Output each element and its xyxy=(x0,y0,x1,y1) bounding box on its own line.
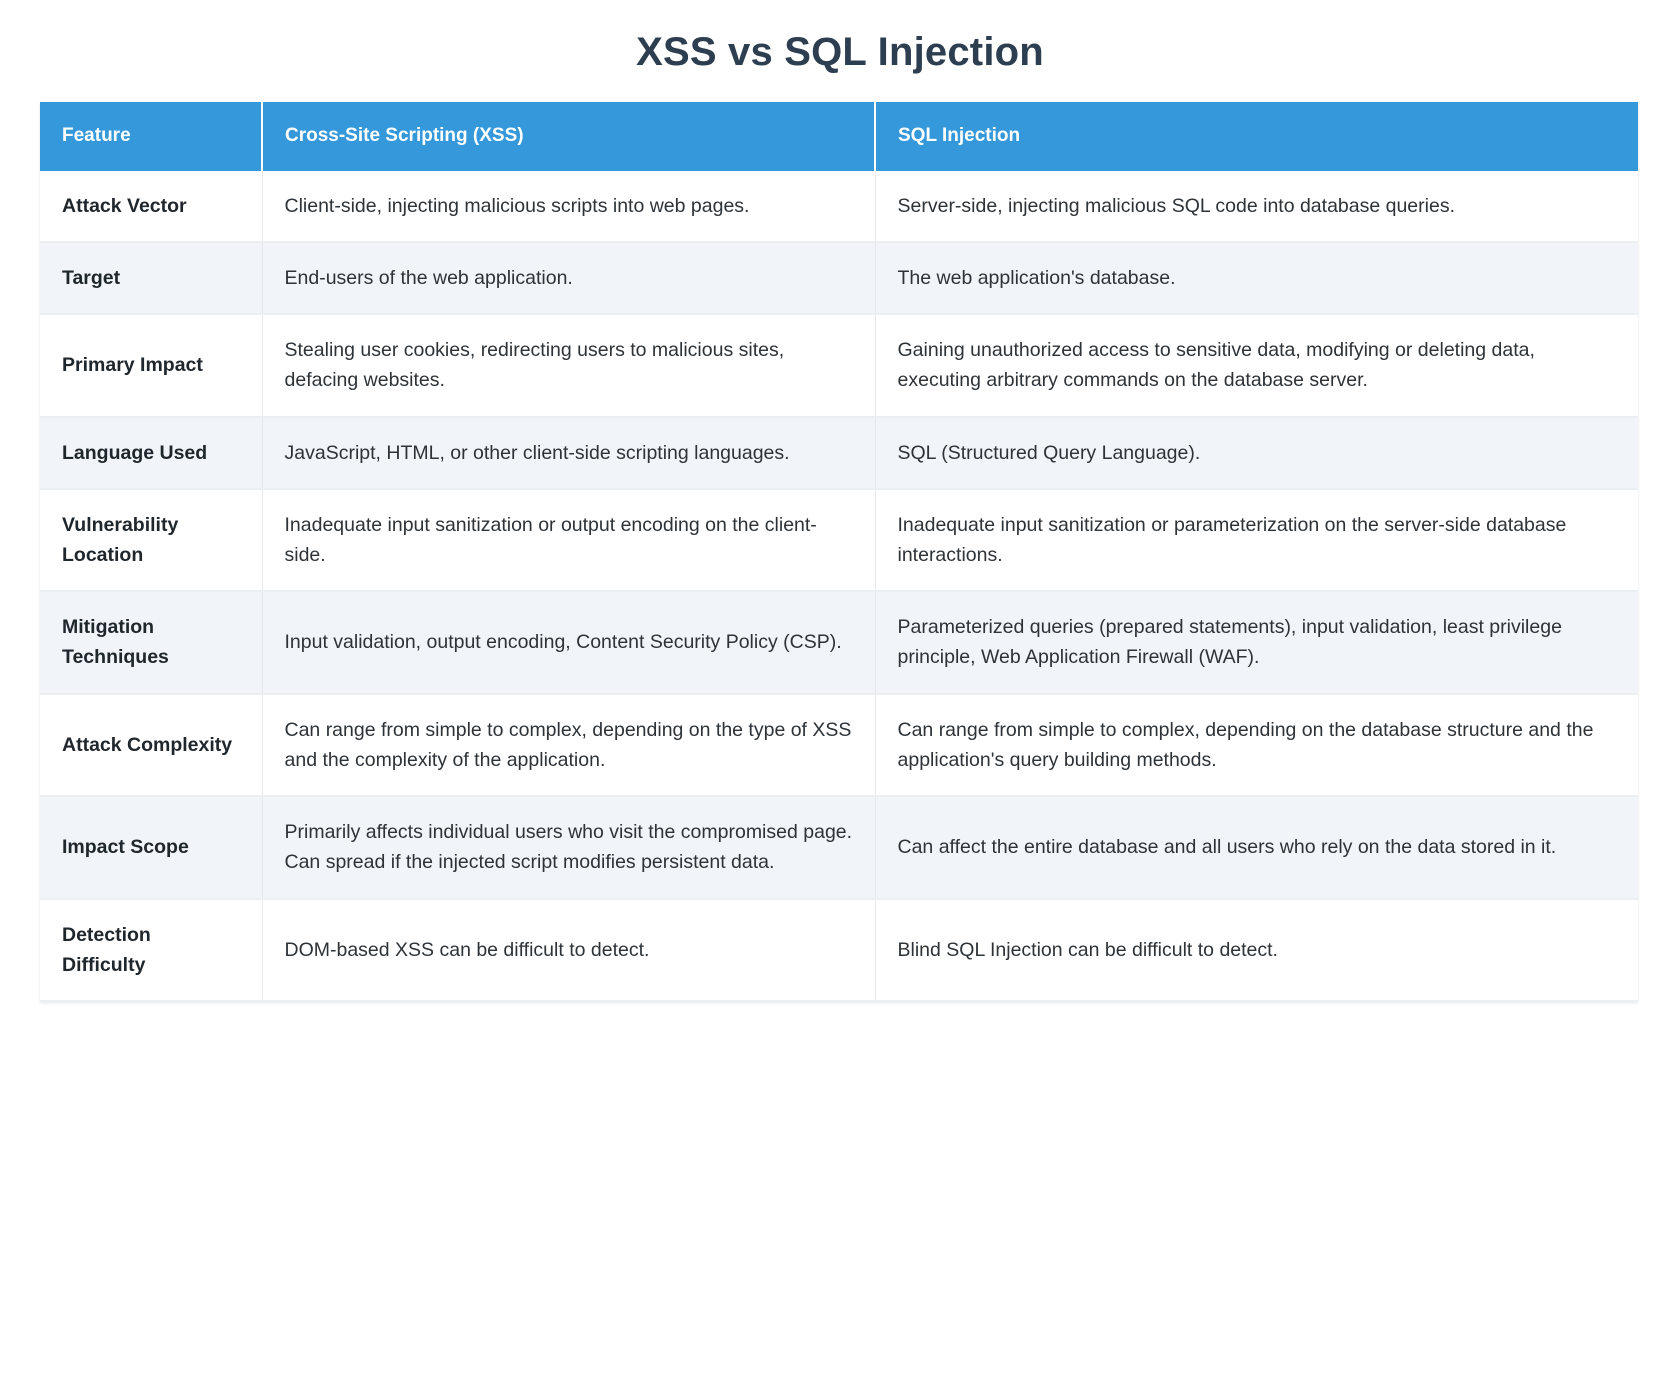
table-row: Detection DifficultyDOM-based XSS can be… xyxy=(40,899,1638,1001)
cell-sqli: Blind SQL Injection can be difficult to … xyxy=(875,899,1638,1001)
cell-sqli: Server-side, injecting malicious SQL cod… xyxy=(875,171,1638,242)
cell-sqli: Inadequate input sanitization or paramet… xyxy=(875,489,1638,591)
page-title: XSS vs SQL Injection xyxy=(0,0,1680,102)
cell-sqli: Can range from simple to complex, depend… xyxy=(875,694,1638,796)
page-root: XSS vs SQL Injection Feature Cross-Site … xyxy=(0,0,1680,1376)
table-header: Feature Cross-Site Scripting (XSS) SQL I… xyxy=(40,102,1638,171)
cell-feature: Attack Complexity xyxy=(40,694,262,796)
table-row: Attack ComplexityCan range from simple t… xyxy=(40,694,1638,796)
cell-feature: Target xyxy=(40,242,262,314)
table-row: Attack VectorClient-side, injecting mali… xyxy=(40,171,1638,242)
cell-feature: Detection Difficulty xyxy=(40,899,262,1001)
cell-xss: Inadequate input sanitization or output … xyxy=(262,489,875,591)
cell-sqli: Parameterized queries (prepared statemen… xyxy=(875,591,1638,693)
cell-xss: DOM-based XSS can be difficult to detect… xyxy=(262,899,875,1001)
comparison-table-container: Feature Cross-Site Scripting (XSS) SQL I… xyxy=(0,102,1680,1002)
table-header-row: Feature Cross-Site Scripting (XSS) SQL I… xyxy=(40,102,1638,171)
table-row: Primary ImpactStealing user cookies, red… xyxy=(40,314,1638,416)
cell-sqli: Gaining unauthorized access to sensitive… xyxy=(875,314,1638,416)
cell-xss: End-users of the web application. xyxy=(262,242,875,314)
table-row: Language UsedJavaScript, HTML, or other … xyxy=(40,417,1638,489)
table-row: TargetEnd-users of the web application.T… xyxy=(40,242,1638,314)
cell-feature: Primary Impact xyxy=(40,314,262,416)
cell-feature: Impact Scope xyxy=(40,796,262,898)
table-row: Mitigation TechniquesInput validation, o… xyxy=(40,591,1638,693)
table-body: Attack VectorClient-side, injecting mali… xyxy=(40,171,1638,1001)
cell-sqli: The web application's database. xyxy=(875,242,1638,314)
cell-xss: Primarily affects individual users who v… xyxy=(262,796,875,898)
table-row: Impact ScopePrimarily affects individual… xyxy=(40,796,1638,898)
cell-feature: Language Used xyxy=(40,417,262,489)
column-header-sqli: SQL Injection xyxy=(875,102,1638,171)
cell-xss: Stealing user cookies, redirecting users… xyxy=(262,314,875,416)
cell-feature: Attack Vector xyxy=(40,171,262,242)
cell-xss: Input validation, output encoding, Conte… xyxy=(262,591,875,693)
comparison-table: Feature Cross-Site Scripting (XSS) SQL I… xyxy=(40,102,1638,1002)
column-header-feature: Feature xyxy=(40,102,262,171)
cell-xss: Client-side, injecting malicious scripts… xyxy=(262,171,875,242)
cell-xss: Can range from simple to complex, depend… xyxy=(262,694,875,796)
cell-xss: JavaScript, HTML, or other client-side s… xyxy=(262,417,875,489)
column-header-xss: Cross-Site Scripting (XSS) xyxy=(262,102,875,171)
cell-feature: Mitigation Techniques xyxy=(40,591,262,693)
cell-feature: Vulnerability Location xyxy=(40,489,262,591)
cell-sqli: SQL (Structured Query Language). xyxy=(875,417,1638,489)
table-row: Vulnerability LocationInadequate input s… xyxy=(40,489,1638,591)
cell-sqli: Can affect the entire database and all u… xyxy=(875,796,1638,898)
